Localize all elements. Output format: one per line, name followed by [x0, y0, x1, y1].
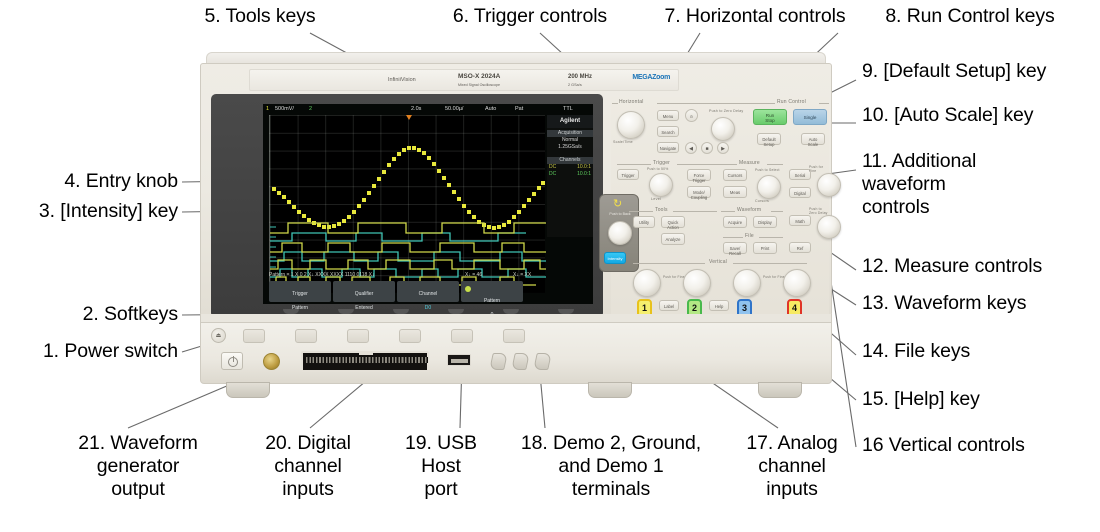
bus-pattern-text: Pattern = 1 X 0 2 X↓ XXXX XXXX 1110 0118… [269, 271, 374, 279]
mode-coupling-key[interactable]: Mode/ Coupling [687, 186, 711, 198]
samplerate-label: 2 GSa/s [568, 82, 582, 88]
sidebar-ch1-coupling: DC [549, 164, 556, 171]
callout-14: 14. File keys [862, 340, 1100, 363]
nav-next-icon-key[interactable]: ▶ [717, 142, 729, 154]
rule [733, 263, 807, 264]
digital-pins [306, 357, 428, 363]
group-label-vertical: Vertical [709, 259, 727, 265]
sidebar-ch2-probe: 10.0:1 [577, 171, 591, 178]
display-key[interactable]: Display [753, 216, 777, 228]
ch1-scale-knob[interactable] [633, 269, 661, 297]
ch4-scale-knob[interactable] [783, 269, 811, 297]
horizontal-scale-knob[interactable] [617, 111, 645, 139]
sidebar-channels-title: Channels [547, 157, 593, 164]
demo-terminals[interactable] [491, 353, 566, 373]
print-key[interactable]: Print [753, 242, 777, 254]
trigger-level-sublabel: Level [651, 197, 661, 201]
demo-terminal-2[interactable] [489, 353, 508, 370]
rule [723, 237, 743, 238]
rule [819, 103, 829, 104]
softkey-channel[interactable]: Channel D0 [397, 281, 459, 302]
force-trigger-key[interactable]: Force Trigger [687, 169, 711, 181]
ground-terminal[interactable] [511, 353, 530, 370]
callout-3: 3. [Intensity] key [0, 200, 178, 223]
bus-annotation: Pattern = 1 X 0 2 X↓ XXXX XXXX 1110 0118… [269, 271, 545, 279]
screen-sidebar: Agilent Acquisition Normal 1.25GSa/s Cha… [547, 115, 593, 237]
group-label-trigger: Trigger [653, 160, 670, 166]
chassis-foot-left [226, 382, 270, 398]
screen-status-bar: 1 500mV/ 2 2.0s 50.00µ/ Auto Pat TTL [263, 104, 593, 115]
waveform-generator-output[interactable] [263, 353, 280, 370]
trigger-level-push-sublabel: Push to 50% [647, 167, 668, 171]
softkey-trigger-label: Trigger [269, 291, 331, 298]
callout-9: 9. [Default Setup] key [862, 60, 1100, 83]
rule [612, 103, 618, 104]
callout-12: 12. Measure controls [862, 255, 1100, 278]
cursors-push-sublabel: Push to Select [755, 168, 780, 172]
softkey-pattern[interactable]: Pattern 0 [461, 281, 523, 302]
status-delay: 2.0s [411, 104, 421, 115]
ch3-scale-knob[interactable] [733, 269, 761, 297]
sidebar-brand: Agilent [547, 115, 593, 128]
softkey-channel-label: Channel [397, 291, 459, 298]
group-label-tools: Tools [655, 207, 668, 213]
callout-10: 10. [Auto Scale] key [862, 104, 1100, 127]
serial-key[interactable]: Serial [789, 169, 811, 180]
horizontal-scale-sublabel: Scale/Time [613, 140, 633, 144]
math-key[interactable]: Math [789, 215, 811, 226]
digital-connector-key [359, 351, 373, 355]
softkey-button-3[interactable] [347, 329, 369, 343]
additional-scale-knob[interactable] [817, 173, 841, 197]
group-label-measure: Measure [739, 160, 760, 166]
brand-bar: InfiniiVision MSO-X 2024A Mixed Signal O… [249, 69, 679, 91]
nav-prev-icon-key[interactable]: ◀ [685, 142, 697, 154]
callout-1: 1. Power switch [0, 340, 178, 363]
status-ch2: 2 [309, 104, 312, 115]
eject-icon-button[interactable]: ⏏ [211, 328, 226, 343]
digital-key[interactable]: Digital [789, 187, 811, 198]
utility-key[interactable]: Utility [633, 216, 655, 228]
chassis-foot-right [758, 382, 802, 398]
megazoom-logo: MEGAZoom [632, 74, 670, 81]
group-label-run-control: Run Control [777, 99, 806, 105]
analyze-key[interactable]: Analyze [661, 233, 685, 245]
rule [633, 263, 705, 264]
softkey-qualifier[interactable]: Qualifier Entered [333, 281, 395, 302]
default-setup-key[interactable]: Default Setup [757, 133, 781, 145]
status-mode: Auto [485, 104, 496, 115]
rule [673, 211, 717, 212]
waveform-traces [270, 115, 546, 293]
meas-key[interactable]: Meas [723, 186, 747, 198]
rule [751, 103, 775, 104]
sidebar-ch2-coupling: DC [549, 171, 556, 178]
sidebar-acquisition-title: Acquisition [547, 130, 593, 137]
status-ch1-scale: 500mV/ [275, 104, 294, 115]
power-icon [228, 357, 238, 367]
family-label: InfiniiVision [388, 77, 416, 83]
oscilloscope-front-panel: InfiniiVision MSO-X 2024A Mixed Signal O… [198, 52, 836, 392]
softkey-pattern-label: Pattern [461, 298, 523, 305]
figure-root: 5. Tools keys 6. Trigger controls 7. Hor… [0, 0, 1100, 532]
status-ch1: 1 [266, 104, 269, 115]
callout-11: 11. Additional waveform controls [862, 150, 1100, 219]
group-label-waveform: Waveform [737, 207, 761, 213]
power-switch[interactable] [221, 352, 243, 370]
model-sub-label: Mixed Signal Oscilloscope [458, 82, 500, 88]
label-key[interactable]: Label [659, 300, 679, 311]
rule [721, 211, 735, 212]
bus-marker-2: X↓ = XX [513, 271, 531, 279]
softkey-button-6[interactable] [503, 329, 525, 343]
digital-channel-inputs[interactable] [301, 351, 429, 372]
sidebar-channel-row-1: DC 10.0:1 [547, 164, 593, 171]
status-triglevel: TTL [563, 104, 573, 115]
cursors-knob[interactable] [757, 175, 781, 199]
cursors-sublabel: Cursors [755, 199, 769, 203]
callout-19: 19. USB Host port [386, 432, 496, 501]
chassis-bottom: ⏏ 1MΩ ≃ 17pF 300 V R [200, 322, 832, 384]
sidebar-acq-mode: Normal [547, 137, 593, 144]
sidebar-channel-row-2: DC 10.0:1 [547, 171, 593, 178]
screen: 1 500mV/ 2 2.0s 50.00µ/ Auto Pat TTL [263, 104, 593, 304]
ch-push-fine-sublabel: Push for Fine [663, 275, 685, 279]
additional-position-knob[interactable] [817, 215, 841, 239]
rule [617, 164, 651, 165]
callout-15: 15. [Help] key [862, 388, 1100, 411]
softkey-qualifier-label: Qualifier [333, 291, 395, 298]
trigger-level-knob[interactable] [649, 173, 673, 197]
intensity-key[interactable]: Intensity [604, 252, 626, 264]
intensity-pod: ↻ Push to Back Intensity [599, 194, 639, 272]
ch-push-fine-sublabel-2: Push for Fine [763, 275, 785, 279]
callout-13: 13. Waveform keys [862, 292, 1100, 315]
additional-push-zero-sublabel: Push to Zero Delay [809, 207, 829, 215]
acquire-key[interactable]: Acquire [723, 216, 747, 228]
run-stop-key[interactable]: Run Stop [753, 109, 787, 125]
intensity-arrow-icon: ↻ [613, 199, 622, 210]
rule [629, 211, 653, 212]
softkey-button-5[interactable] [451, 329, 473, 343]
callout-21: 21. Waveform generator output [58, 432, 218, 501]
rule [677, 164, 721, 165]
additional-push-fine-sublabel: Push for Fine [809, 165, 829, 173]
save-recall-key[interactable]: Save/ Recall [723, 242, 747, 254]
horizontal-delay-knob[interactable] [711, 117, 735, 141]
rule [767, 164, 783, 165]
display-bezel: 1 500mV/ 2 2.0s 50.00µ/ Auto Pat TTL [211, 94, 603, 318]
softkey-button-4[interactable] [399, 329, 421, 343]
zoom-icon-key[interactable]: ⊙ [685, 109, 698, 122]
softkey-button-1[interactable] [243, 329, 265, 343]
bus-marker-1: X↓ = 46 [465, 271, 482, 279]
nav-stop-icon-key[interactable]: ■ [701, 142, 713, 154]
quick-action-key[interactable]: Quick Action [661, 216, 685, 228]
entry-knob-push-sublabel: Push to Back [603, 212, 637, 216]
single-key[interactable]: Single [793, 109, 827, 125]
trigger-key[interactable]: Trigger [617, 169, 639, 180]
status-source: Pat [515, 104, 523, 115]
rule [657, 103, 759, 104]
horizontal-search-key[interactable]: Search [657, 126, 679, 137]
softkey-trigger[interactable]: Trigger Pattern [269, 281, 331, 302]
callout-4: 4. Entry knob [0, 170, 178, 193]
help-key[interactable]: Help [709, 300, 729, 311]
ch2-scale-knob[interactable] [683, 269, 711, 297]
ref-key[interactable]: Ref [789, 242, 811, 253]
rule [721, 164, 737, 165]
sidebar-acq-rate: 1.25GSa/s [547, 144, 593, 151]
callout-16: 16 Vertical controls [862, 434, 1100, 457]
status-timebase: 50.00µ/ [445, 104, 463, 115]
bandwidth-label: 200 MHz [568, 74, 592, 80]
cursors-key[interactable]: Cursors [723, 169, 747, 181]
model-label: MSO-X 2024A [458, 74, 500, 80]
horizontal-menu-key[interactable]: Menu [657, 110, 679, 121]
rule [771, 211, 783, 212]
control-cluster: Horizontal Scale/Time Menu ⊙ Search Push… [611, 97, 829, 315]
usb-host-port[interactable] [447, 354, 471, 366]
softkey-button-2[interactable] [295, 329, 317, 343]
chassis-main: InfiniiVision MSO-X 2024A Mixed Signal O… [200, 63, 832, 316]
rule [759, 237, 783, 238]
callout-2: 2. Softkeys [0, 303, 178, 326]
demo-terminal-1[interactable] [533, 353, 552, 370]
sidebar-ch1-probe: 10.0:1 [577, 164, 591, 171]
pattern-led-icon [465, 286, 471, 292]
callout-17: 17. Analog channel inputs [728, 432, 856, 501]
auto-scale-key[interactable]: Auto Scale [801, 133, 825, 145]
entry-knob[interactable] [608, 221, 632, 245]
horizontal-navigate-key[interactable]: Navigate [657, 142, 679, 153]
callout-5: 5. Tools keys [150, 5, 370, 28]
graticule [269, 115, 545, 293]
chassis-foot-mid [588, 382, 632, 398]
callout-8: 8. Run Control keys [840, 5, 1100, 28]
group-label-file: File [745, 233, 754, 239]
callout-18: 18. Demo 2, Ground, and Demo 1 terminals [500, 432, 722, 501]
softkey-menu: Trigger Pattern Qualifier Entered Channe… [269, 281, 591, 302]
delay-sublabel: Push to Zero Delay [709, 109, 743, 113]
group-label-horizontal: Horizontal [619, 99, 644, 105]
callout-20: 20. Digital channel inputs [238, 432, 378, 501]
